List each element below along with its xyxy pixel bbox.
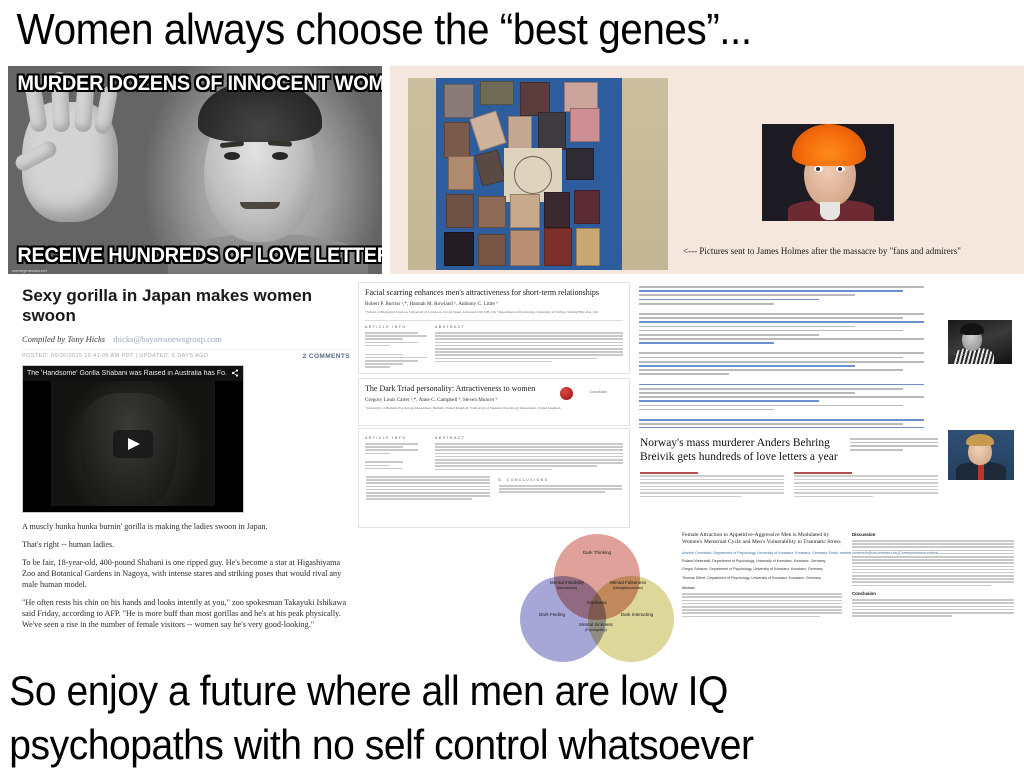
conclusion-heading: 5. Conclusions (499, 478, 623, 482)
paper-authors: Gregory Louis Carter ᵃ,*, Anne C. Campbe… (365, 397, 623, 403)
holmes-caption: <--- Pictures sent to James Holmes after… (622, 246, 1022, 256)
article-meta: POSTED: 06/26/2015 10:41:05 AM PDT | UPD… (22, 349, 350, 360)
abstract-text (682, 593, 842, 617)
richard-ramirez-bw-photo (948, 320, 1012, 364)
photo-tile (508, 116, 532, 150)
meme-top-text: MURDER DOZENS OF INNOCENT WOMEN (17, 72, 372, 96)
conclusion-heading: Conclusion (852, 591, 1014, 596)
photo-tile (538, 112, 566, 150)
eye-left (224, 152, 240, 160)
article-timestamps: POSTED: 06/26/2015 10:41:05 AM PDT | UPD… (22, 353, 208, 360)
paper-affiliations: ᵃ School of Biological Sciences, Univers… (365, 310, 623, 315)
raised-hand-shape (22, 102, 118, 222)
photo-tile (478, 196, 506, 228)
article-info-heading: ARTICLE INFO (365, 325, 427, 329)
abstract-column: ABSTRACT (435, 325, 623, 368)
paper-title: Female Attraction to Appetitive-Aggressi… (682, 532, 842, 547)
eye-right (272, 152, 288, 160)
venn-label-dark-thinking: Dark Thinking (574, 550, 620, 556)
article-paragraph: To be fair, 18-year-old, 400-pound Shaba… (22, 557, 350, 590)
photo-tile (444, 122, 470, 158)
abstract-heading: ABSTRACT (435, 436, 623, 440)
mouth-shape (240, 202, 280, 209)
byline-author: Compiled by Tony Hicks (22, 334, 105, 344)
breivik-headline: Norway's mass murderer Anders Behring Br… (640, 436, 850, 464)
paper-affiliations: ᵃ University of Durham, Psychology Depar… (365, 406, 623, 411)
comments-link[interactable]: 2 COMMENTS (303, 353, 350, 360)
article-info-column: ARTICLE INFO (365, 436, 427, 470)
photo-tile (510, 194, 540, 228)
photo-tile (570, 108, 600, 142)
photo-tile (446, 194, 474, 228)
conclusion-text (852, 599, 1014, 617)
photo-tile (480, 81, 514, 105)
meme-collage-page: Women always choose the “best genes”... … (0, 0, 1024, 780)
photo-collage-board (408, 78, 668, 270)
gorilla-news-article: Sexy gorilla in Japan makes women swoon … (18, 282, 354, 672)
breivik-column-right (794, 472, 938, 499)
abstract-heading: ABSTRACT (435, 325, 623, 329)
paper-dark-triad: The Dark Triad personality: Attractivene… (358, 378, 630, 426)
meme-bottom-text: RECEIVE HUNDREDS OF LOVE LETTERS (17, 244, 372, 268)
photo-tile (520, 82, 550, 116)
paper-columns: ARTICLE INFO ABSTRACT (365, 320, 623, 368)
paper-female-attraction: Female Attraction to Appetitive-Aggressi… (676, 528, 1020, 668)
breivik-love-letters-article: Norway's mass murderer Anders Behring Br… (634, 432, 944, 524)
paper-title: Facial scarring enhances men's attractiv… (365, 288, 623, 297)
anders-behring-breivik-photo (948, 430, 1014, 480)
venn-label-mental-falseness: Mental Falseness (Disingenuousness) (607, 580, 649, 591)
wikipedia-hybristophilia-article (634, 282, 944, 428)
article-byline: Compiled by Tony Hicks thicks@bayareanew… (22, 334, 350, 344)
venn-label-darkness: Darkness (574, 600, 620, 606)
share-icon[interactable] (231, 369, 239, 379)
discussion-heading: Discussion (852, 532, 1014, 537)
photo-tile (544, 192, 570, 228)
play-icon[interactable] (113, 430, 153, 458)
dark-personality-venn-diagram: Dark Thinking Dark Feeling Dark Interact… (512, 530, 672, 668)
abstract-text (435, 332, 623, 362)
body-column-right: 5. Conclusions (499, 476, 623, 500)
photo-tile (566, 148, 594, 180)
venn-label-mental-instability: Mental Instability (Neuroticism) (547, 580, 587, 591)
venn-label-mental-sickness: Mental Sickness (Psychopathy) (575, 622, 617, 633)
video-frame (51, 381, 215, 506)
bottom-caption-line-2: psychopaths with no self control whatsoe… (9, 718, 952, 772)
venn-label-dark-interacting: Dark Interacting (614, 612, 660, 618)
discussion-text (852, 540, 1014, 586)
photo-tile (576, 228, 600, 266)
paper-body-columns: 5. Conclusions (366, 476, 622, 500)
photo-tile (544, 228, 572, 266)
paper-authors: Robert P. Burriss ᵃ,*, Hannah M. Rowland… (365, 301, 623, 307)
breivik-sidebar-text (850, 438, 938, 453)
photo-tile (510, 230, 540, 266)
crossmark-label: CrossMark (590, 390, 607, 394)
meme-watermark: memegenerator.net (12, 268, 47, 273)
photo-tile (448, 156, 474, 190)
breivik-body-columns (640, 472, 938, 499)
byline-email[interactable]: thicks@bayareanewsgroup.com (113, 334, 222, 344)
paper-title: The Dark Triad personality: Attractivene… (365, 384, 623, 393)
video-title: The 'Handsome' Gorilla Shabani was Raise… (27, 370, 227, 377)
bundy-meme-image: MURDER DOZENS OF INNOCENT WOMEN RECEIVE … (8, 66, 382, 274)
article-paragraph: A muscly hunka hunka burnin' gorilla is … (22, 521, 350, 532)
article-history-text (365, 332, 427, 368)
venn-label-dark-feeling: Dark Feeling (529, 612, 575, 618)
article-info-heading: ARTICLE INFO (365, 436, 427, 440)
bottom-caption: So enjoy a future where all men are low … (0, 664, 952, 780)
photo-tile (574, 190, 600, 224)
bottom-caption-line-1: So enjoy a future where all men are low … (9, 664, 952, 718)
article-headline: Sexy gorilla in Japan makes women swoon (22, 286, 350, 326)
video-title-bar: The 'Handsome' Gorilla Shabani was Raise… (23, 366, 243, 381)
paper-facial-scarring: Facial scarring enhances men's attractiv… (358, 282, 630, 374)
top-caption: Women always choose the “best genes”... (0, 0, 942, 60)
article-paragraph: "He often rests his chin on his hands an… (22, 597, 350, 630)
article-body: A muscly hunka hunka burnin' gorilla is … (22, 521, 350, 630)
photo-tile (444, 84, 474, 118)
article-paragraph: That's right -- human ladies. (22, 539, 350, 550)
photo-tile (444, 232, 474, 266)
article-info-column: ARTICLE INFO (365, 325, 427, 368)
photo-tile (478, 234, 506, 266)
breivik-column-left (640, 472, 784, 499)
discussion-column: Discussion Conclusion (852, 532, 1014, 617)
paper-dark-triad-body: ARTICLE INFO ABSTRACT 5. Conclusions (358, 428, 630, 528)
video-player[interactable]: The 'Handsome' Gorilla Shabani was Raise… (22, 365, 244, 513)
james-holmes-mugshot (762, 124, 894, 221)
holmes-fanmail-panel: <--- Pictures sent to James Holmes after… (390, 66, 1024, 274)
abstract-column: ABSTRACT (435, 436, 623, 470)
crossmark-icon (560, 387, 573, 400)
body-column-left (366, 476, 490, 500)
